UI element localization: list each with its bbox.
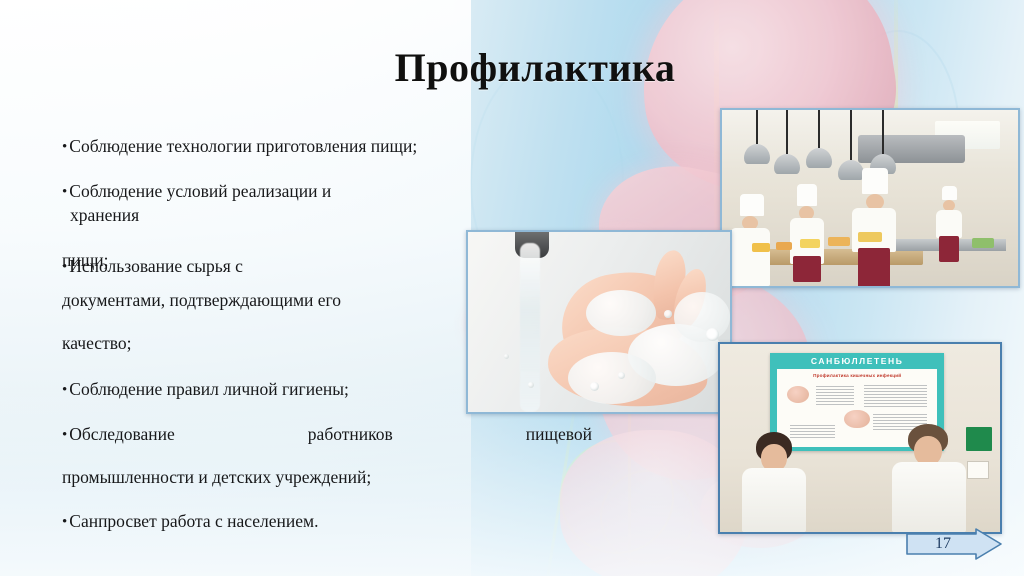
handwash-scene — [468, 232, 730, 412]
lamp-cord — [786, 110, 788, 154]
bullet-marker: • — [62, 181, 67, 200]
lamp-cord — [850, 110, 852, 160]
bullet-marker: • — [62, 379, 67, 398]
list-item: • Санпросвет работа с населением. — [62, 511, 592, 532]
heat-lamp — [806, 148, 832, 168]
list-item: • Соблюдение технологии приготовления пи… — [62, 136, 592, 157]
page-number: 17 — [906, 528, 980, 560]
text-column — [864, 385, 928, 408]
soap-bubble — [664, 310, 672, 318]
photo-sanitary-bulletin[interactable]: САНБЮЛЛЕТЕНЬ Профилактика кишечных инфек… — [718, 342, 1002, 534]
plated-food — [858, 232, 882, 242]
text-column — [816, 386, 854, 405]
page-title: Профилактика — [0, 44, 1024, 91]
plated-food — [800, 239, 820, 248]
soap-bubble — [528, 382, 534, 388]
lamp-cord — [756, 110, 758, 144]
bullet-marker: • — [62, 424, 67, 443]
soap-foam — [586, 290, 656, 336]
bullet-marker: • — [62, 256, 67, 275]
photo-handwashing[interactable] — [466, 230, 732, 414]
bulletin-board-title: САНБЮЛЛЕТЕНЬ — [770, 356, 944, 366]
bullet-text-continuation: промышленности и детских учреждений; — [62, 467, 592, 488]
page-number-badge: 17 — [906, 528, 1002, 560]
list-item: • Обследование работников пищевой — [62, 424, 592, 445]
bullet-text: Соблюдение технологии приготовления пищи… — [69, 136, 592, 157]
bacteria-illustration — [844, 410, 870, 429]
list-item: • Соблюдение условий реализации и — [62, 181, 492, 202]
soap-bubble — [590, 382, 599, 391]
bullet-text: Санпросвет работа с населением. — [69, 511, 592, 532]
kitchen-scene — [722, 110, 1018, 286]
plated-food — [828, 237, 850, 246]
soap-bubble — [706, 328, 719, 341]
plated-food — [972, 238, 994, 248]
photo-kitchen[interactable] — [720, 108, 1020, 288]
soap-bubble — [504, 354, 509, 359]
bullet-marker: • — [62, 511, 67, 530]
bulletin-subtitle: Профилактика кишечных инфекций — [777, 373, 937, 378]
soap-bubble — [618, 372, 625, 379]
wall-note — [967, 461, 989, 480]
heat-lamp — [774, 154, 800, 174]
slide: Профилактика • Соблюдение технологии при… — [0, 0, 1024, 576]
chef-figure — [850, 168, 898, 286]
plated-food — [776, 242, 792, 250]
poster-scene: САНБЮЛЛЕТЕНЬ Профилактика кишечных инфек… — [720, 344, 1000, 532]
bullet-marker: • — [62, 136, 67, 155]
hands-illustration — [787, 386, 809, 403]
plated-food — [752, 243, 770, 252]
list-item: • Использование сырья с — [62, 256, 243, 277]
lamp-cord — [818, 110, 820, 148]
medical-staff-left — [742, 432, 806, 532]
bullet-text: Обследование работников пищевой — [69, 424, 592, 445]
chef-figure — [728, 194, 772, 286]
medical-staff-right — [892, 424, 966, 532]
lamp-cord — [882, 110, 884, 154]
bullet-text-continuation: хранения — [62, 205, 592, 226]
heat-lamp — [744, 144, 770, 164]
bullet-text: Соблюдение условий реализации и — [69, 181, 492, 202]
chef-figure — [790, 184, 824, 270]
exit-sign-icon — [966, 427, 991, 451]
soap-foam — [568, 352, 656, 404]
bullet-text: Использование сырья с — [69, 256, 243, 277]
chef-figure — [936, 186, 962, 260]
soap-foam — [674, 292, 730, 342]
